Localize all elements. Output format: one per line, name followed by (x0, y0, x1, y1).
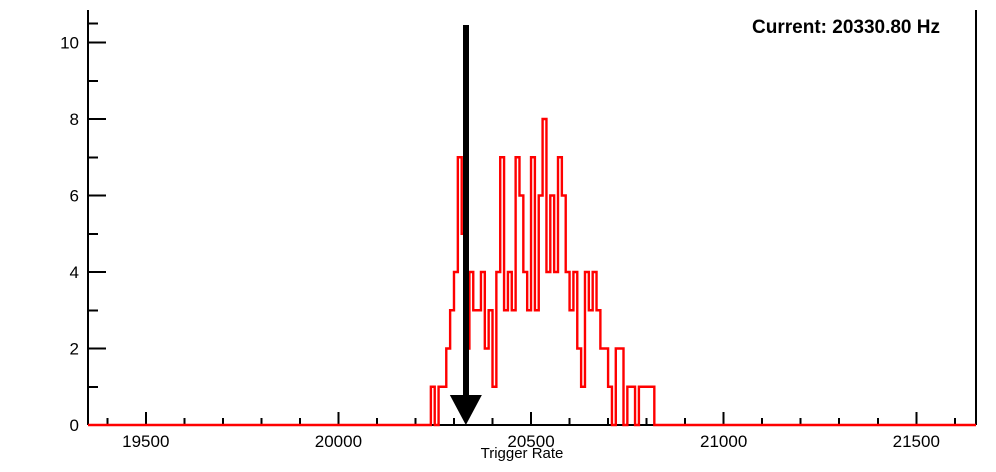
y-tick-label: 6 (70, 187, 79, 206)
histogram-plot: 1950020000205002100021500 0246810 Trigge… (0, 0, 996, 472)
current-rate-status: Current: 20330.80 Hz (752, 17, 940, 38)
current-rate-marker (450, 25, 482, 425)
x-axis-title: Trigger Rate (481, 445, 564, 462)
root-canvas: 1950020000205002100021500 0246810 Trigge… (0, 0, 996, 472)
y-tick-label: 0 (70, 416, 79, 435)
x-tick-label: 20000 (315, 432, 362, 451)
x-tick-label: 21500 (893, 432, 940, 451)
y-tick-labels: 0246810 (60, 34, 79, 435)
y-tick-label: 2 (70, 340, 79, 359)
x-tick-label: 21000 (700, 432, 747, 451)
histogram-outline (88, 119, 976, 425)
y-tick-label: 8 (70, 110, 79, 129)
y-tick-label: 10 (60, 34, 79, 53)
x-tick-label: 19500 (122, 432, 169, 451)
y-tick-label: 4 (70, 263, 79, 282)
